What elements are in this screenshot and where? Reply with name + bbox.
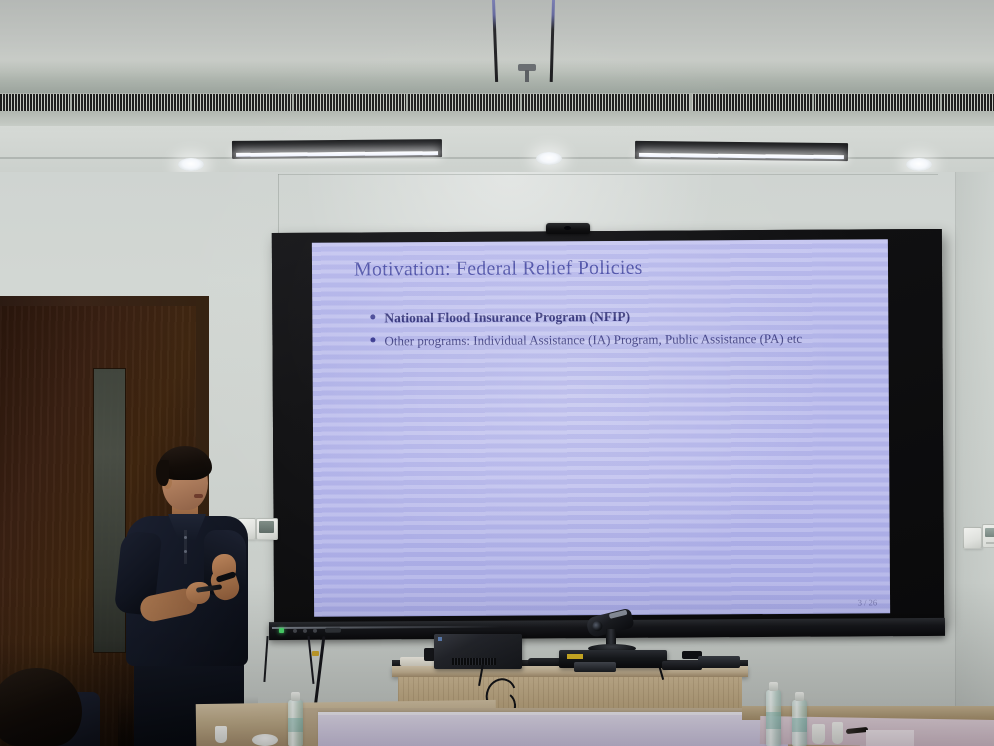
bottle-cap — [291, 692, 300, 701]
bullet-dot-icon — [370, 314, 375, 319]
ir-receiver-icon — [325, 628, 341, 633]
seated-attendee — [0, 668, 94, 746]
table-cloth-edge — [318, 712, 788, 715]
speakerbar-label-icon — [567, 654, 583, 659]
slide-title: Motivation: Federal Relief Policies — [354, 257, 643, 282]
power-led-icon — [279, 628, 284, 633]
presenter-polo-button — [184, 536, 187, 539]
remote-control[interactable] — [528, 658, 562, 666]
downlight-center — [536, 152, 562, 165]
slide-page-number: 3 / 26 — [858, 597, 877, 607]
water-bottle[interactable] — [288, 700, 303, 746]
note-pad[interactable] — [866, 730, 914, 746]
water-bottle[interactable] — [792, 700, 807, 746]
webcam-lens-icon — [564, 226, 571, 230]
screen-scanlines — [312, 239, 890, 617]
av-switcher[interactable] — [698, 656, 740, 668]
ceiling-light-bar-right — [635, 141, 848, 161]
wall-right-shading — [956, 172, 994, 732]
presenter-hair-side — [156, 460, 169, 486]
hvac-underside — [0, 111, 994, 127]
water-bottle[interactable] — [766, 690, 781, 746]
paper-cup[interactable] — [812, 724, 825, 744]
wall-panel-seam-horizontal — [278, 174, 938, 175]
hvac-grille — [0, 93, 994, 113]
presenter-mouth — [194, 494, 203, 498]
paper-cup[interactable] — [215, 726, 227, 743]
wireless-receiver[interactable] — [574, 662, 616, 672]
wall-panel-screen — [259, 521, 274, 533]
screen-glare — [312, 239, 890, 617]
display-webcam-icon — [546, 223, 590, 234]
source-button[interactable] — [303, 629, 307, 633]
slide-bullet-item: Other programs: Individual Assistance (I… — [370, 330, 880, 349]
bottle-label — [792, 718, 807, 732]
thermostat-panel[interactable] — [982, 524, 994, 548]
presenter — [108, 446, 256, 746]
thermostat-buttons[interactable] — [986, 542, 994, 544]
presenter-polo-button — [184, 550, 187, 553]
light-switch[interactable] — [963, 527, 982, 549]
cable-clip — [312, 651, 319, 656]
paper-cup[interactable] — [832, 722, 843, 744]
bullet-dot-icon — [370, 337, 375, 342]
attendee-head — [0, 668, 82, 746]
volume-button[interactable] — [313, 629, 317, 633]
slide-body: National Flood Insurance Program (NFIP) … — [370, 307, 880, 355]
media-player[interactable] — [662, 661, 702, 670]
table-cloth — [318, 712, 788, 746]
downlight-left — [178, 158, 204, 171]
projector-mount-stem — [525, 70, 529, 82]
menu-button[interactable] — [293, 629, 297, 633]
bottle-label — [766, 712, 781, 729]
bottle-label — [288, 718, 303, 732]
ceiling-light-bar-left — [232, 139, 442, 159]
wall-display[interactable]: Motivation: Federal Relief Policies Nati… — [272, 229, 944, 628]
bottle-cap — [795, 692, 804, 701]
pc-power-led-icon — [438, 637, 442, 641]
camera-lens-icon — [591, 620, 603, 632]
desktop-pc-tower[interactable] — [434, 634, 522, 669]
presentation-slide[interactable]: Motivation: Federal Relief Policies Nati… — [312, 239, 890, 617]
conference-room-scene: Motivation: Federal Relief Policies Nati… — [0, 0, 994, 746]
slide-bullet-item: National Flood Insurance Program (NFIP) — [370, 307, 880, 327]
pc-vent-grille — [452, 658, 496, 665]
saucer[interactable] — [252, 734, 278, 746]
bottle-cap — [769, 682, 778, 691]
slide-bullet-text: Other programs: Individual Assistance (I… — [384, 331, 802, 350]
thermostat-display-icon — [985, 528, 994, 537]
slide-bullet-text: National Flood Insurance Program (NFIP) — [384, 309, 630, 327]
downlight-right — [906, 158, 932, 171]
